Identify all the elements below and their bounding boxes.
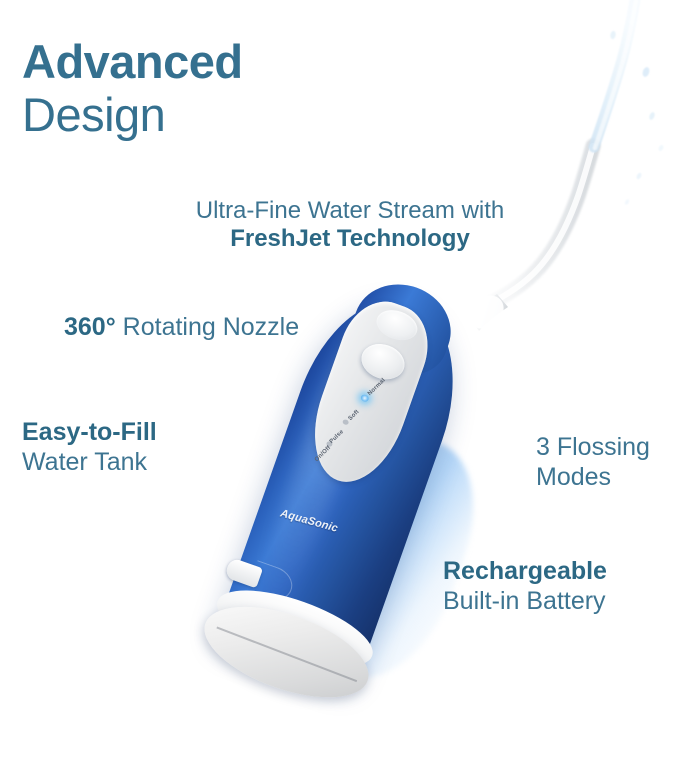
- callout-water-tank-light: Water Tank: [22, 448, 157, 478]
- callout-water-tank-bold: Easy-to-Fill: [22, 418, 157, 448]
- product-infographic: Normal Soft Pulse On/Off AquaSonic Advan…: [0, 0, 679, 757]
- subtitle-line-2: FreshJet Technology: [175, 225, 525, 253]
- callout-battery: Rechargeable Built-in Battery: [443, 557, 607, 616]
- subtitle-line-1: Ultra-Fine Water Stream with: [175, 197, 525, 225]
- callout-rotating-nozzle: 360° Rotating Nozzle: [64, 313, 299, 343]
- callout-flossing-modes-line-1: 3 Flossing: [536, 433, 650, 463]
- callout-flossing-modes: 3 Flossing Modes: [536, 433, 650, 492]
- subtitle: Ultra-Fine Water Stream with FreshJet Te…: [175, 197, 525, 254]
- callout-water-tank: Easy-to-Fill Water Tank: [22, 418, 157, 477]
- callout-battery-bold: Rechargeable: [443, 557, 607, 587]
- title-line-design: Design: [22, 89, 243, 142]
- water-stream: [594, 0, 664, 205]
- title-line-advanced: Advanced: [22, 36, 243, 89]
- callout-rotating-nozzle-bold: 360°: [64, 313, 116, 341]
- callout-rotating-nozzle-light: Rotating Nozzle: [116, 313, 299, 341]
- callout-battery-light: Built-in Battery: [443, 587, 607, 617]
- page-title: Advanced Design: [22, 36, 243, 141]
- callout-flossing-modes-line-2: Modes: [536, 463, 650, 493]
